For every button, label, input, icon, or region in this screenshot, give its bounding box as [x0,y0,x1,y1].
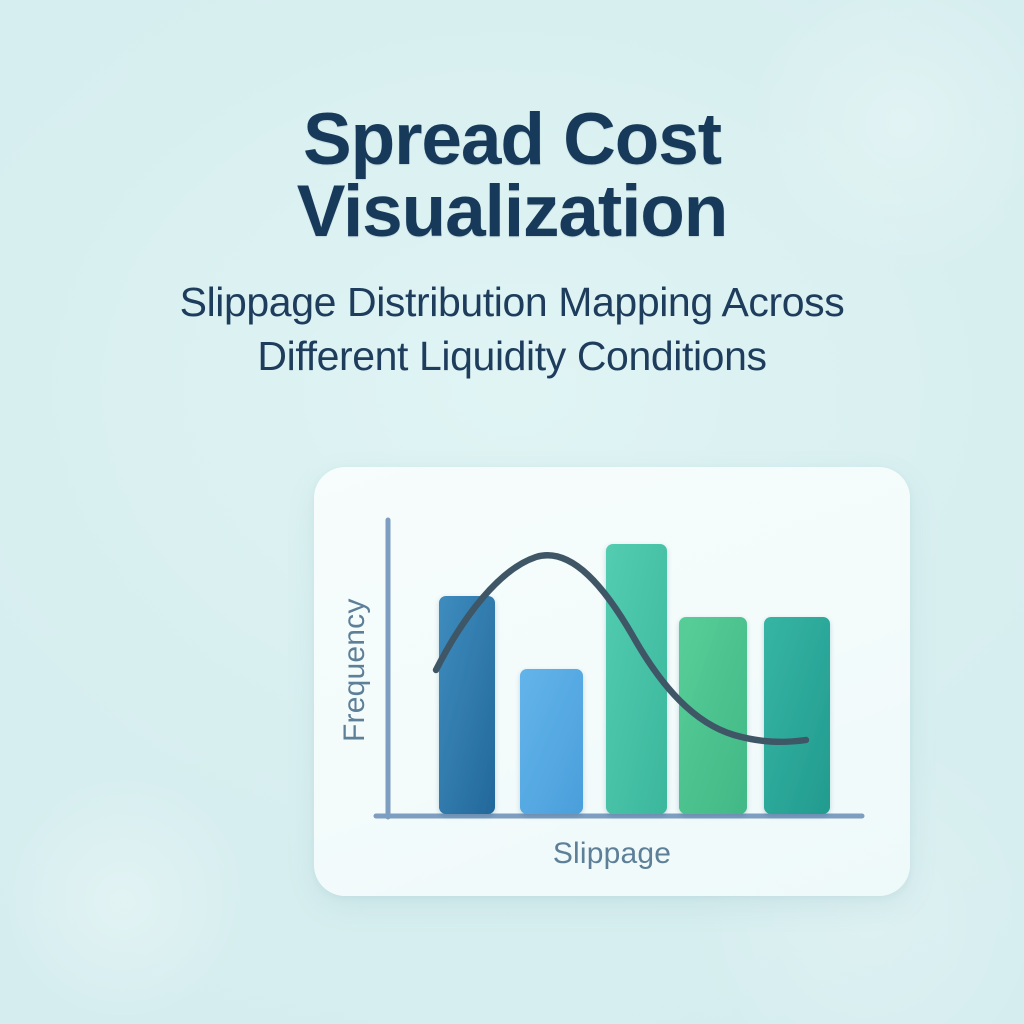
page-title-line-1: Spread Cost [0,104,1024,176]
page-title: Spread Cost Visualization [0,0,1024,249]
page-subtitle: Slippage Distribution Mapping Across Dif… [0,249,1024,384]
bar-2[interactable] [520,669,583,814]
page-subtitle-line-1: Slippage Distribution Mapping Across [0,275,1024,330]
bar-4[interactable] [679,617,747,814]
poster-canvas: Spread Cost Visualization Slippage Distr… [0,0,1024,1024]
page-subtitle-line-2: Different Liquidity Conditions [0,329,1024,384]
bar-5[interactable] [764,617,830,814]
poster-header: Spread Cost Visualization Slippage Distr… [0,0,1024,384]
page-title-line-2: Visualization [0,176,1024,248]
chart-card: Frequency Slippage [314,467,910,896]
bar-chart: Frequency Slippage [314,467,910,896]
y-axis-label: Frequency [338,598,371,742]
bar-1[interactable] [439,596,495,814]
x-axis-label: Slippage [553,837,671,870]
